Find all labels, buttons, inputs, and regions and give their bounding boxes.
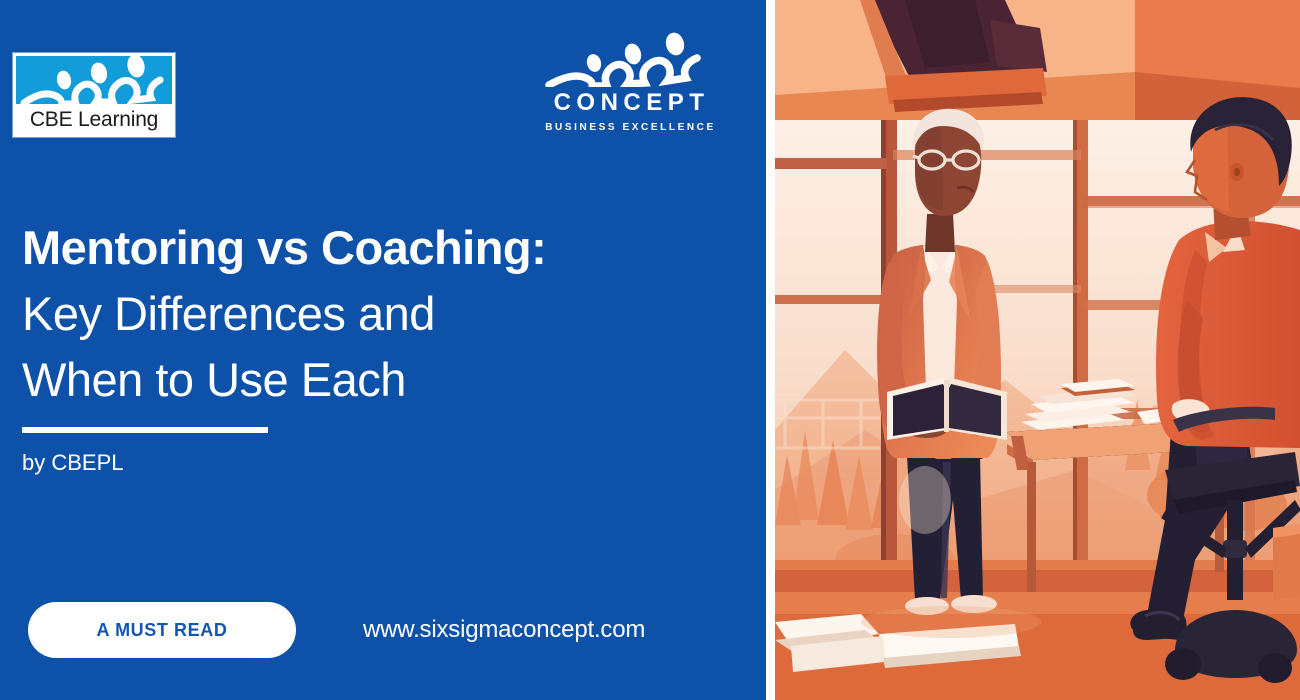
blog-promo-banner: CBE Learning CONCEPT BUSINESS EXCELLENCE… — [0, 0, 1300, 700]
floor-light-spot — [899, 466, 951, 534]
chair-caster — [1165, 648, 1201, 680]
chair-caster — [1258, 653, 1292, 683]
desk-leg-left — [1027, 462, 1036, 592]
cbe-learning-logo[interactable]: CBE Learning — [13, 53, 175, 137]
title-line-1: Mentoring vs Coaching: — [22, 215, 722, 281]
concept-logo-name: CONCEPT — [541, 89, 717, 117]
website-url[interactable]: www.sixsigmaconcept.com — [363, 616, 645, 644]
a-must-read-button[interactable]: A MUST READ — [28, 602, 296, 658]
three-running-figures-icon — [16, 56, 172, 104]
page-title: Mentoring vs Coaching: Key Differences a… — [22, 215, 722, 413]
left-content-panel: CBE Learning CONCEPT BUSINESS EXCELLENCE… — [0, 0, 766, 700]
mentee-shoe — [1130, 610, 1186, 640]
mentoring-scene-illustration — [775, 0, 1300, 700]
author-byline: by CBEPL — [22, 450, 124, 476]
concept-logo-tagline: BUSINESS EXCELLENCE — [541, 122, 717, 133]
three-running-figures-icon — [541, 27, 717, 87]
a-must-read-button-label: A MUST READ — [97, 620, 228, 641]
title-divider — [22, 427, 268, 433]
mentor-neck — [925, 214, 955, 252]
title-line-3: When to Use Each — [22, 347, 722, 413]
concept-logo[interactable]: CONCEPT BUSINESS EXCELLENCE — [541, 27, 717, 132]
floor-box — [1273, 524, 1300, 600]
title-line-2: Key Differences and — [22, 281, 722, 347]
cbe-learning-logo-text: CBE Learning — [13, 105, 175, 135]
